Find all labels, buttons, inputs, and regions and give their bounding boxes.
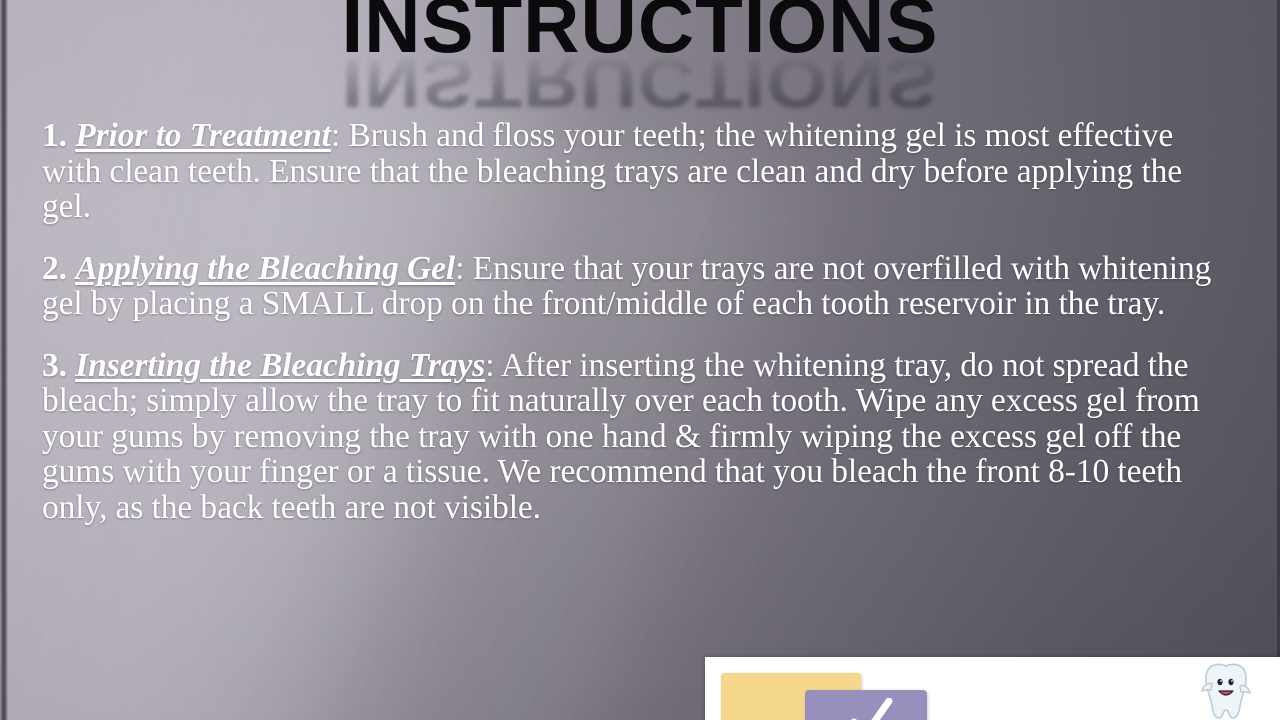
step-1-colon: : <box>331 117 340 154</box>
instruction-step-1: 1. Prior to Treatment: Brush and floss y… <box>42 118 1238 225</box>
slide-canvas: INSTRUCTIONS INSTRUCTIONS 1. Prior to Tr… <box>0 0 1280 720</box>
instruction-step-2: 2. Applying the Bleaching Gel: Ensure th… <box>42 251 1238 322</box>
checkmark-icon <box>849 698 893 720</box>
instructions-list: 1. Prior to Treatment: Brush and floss y… <box>42 118 1238 525</box>
step-3-number: 3 <box>42 347 59 384</box>
step-2-separator: . <box>59 250 67 287</box>
step-2-heading: Applying the Bleaching Gel <box>75 250 455 287</box>
tooth-mascot-icon <box>1200 660 1252 720</box>
step-3-separator: . <box>59 347 67 384</box>
step-2-colon: : <box>455 250 464 287</box>
bottom-right-graphic-panel <box>705 657 1280 720</box>
step-3-heading: Inserting the Bleaching Trays <box>75 347 485 384</box>
step-1-heading: Prior to Treatment <box>75 117 331 154</box>
instruction-step-3: 3. Inserting the Bleaching Trays: After … <box>42 348 1238 526</box>
step-2-number: 2 <box>42 250 59 287</box>
left-edge-strip <box>0 0 8 720</box>
step-1-number: 1 <box>42 117 59 154</box>
step-1-separator: . <box>59 117 67 154</box>
purple-card-shape <box>805 690 927 720</box>
